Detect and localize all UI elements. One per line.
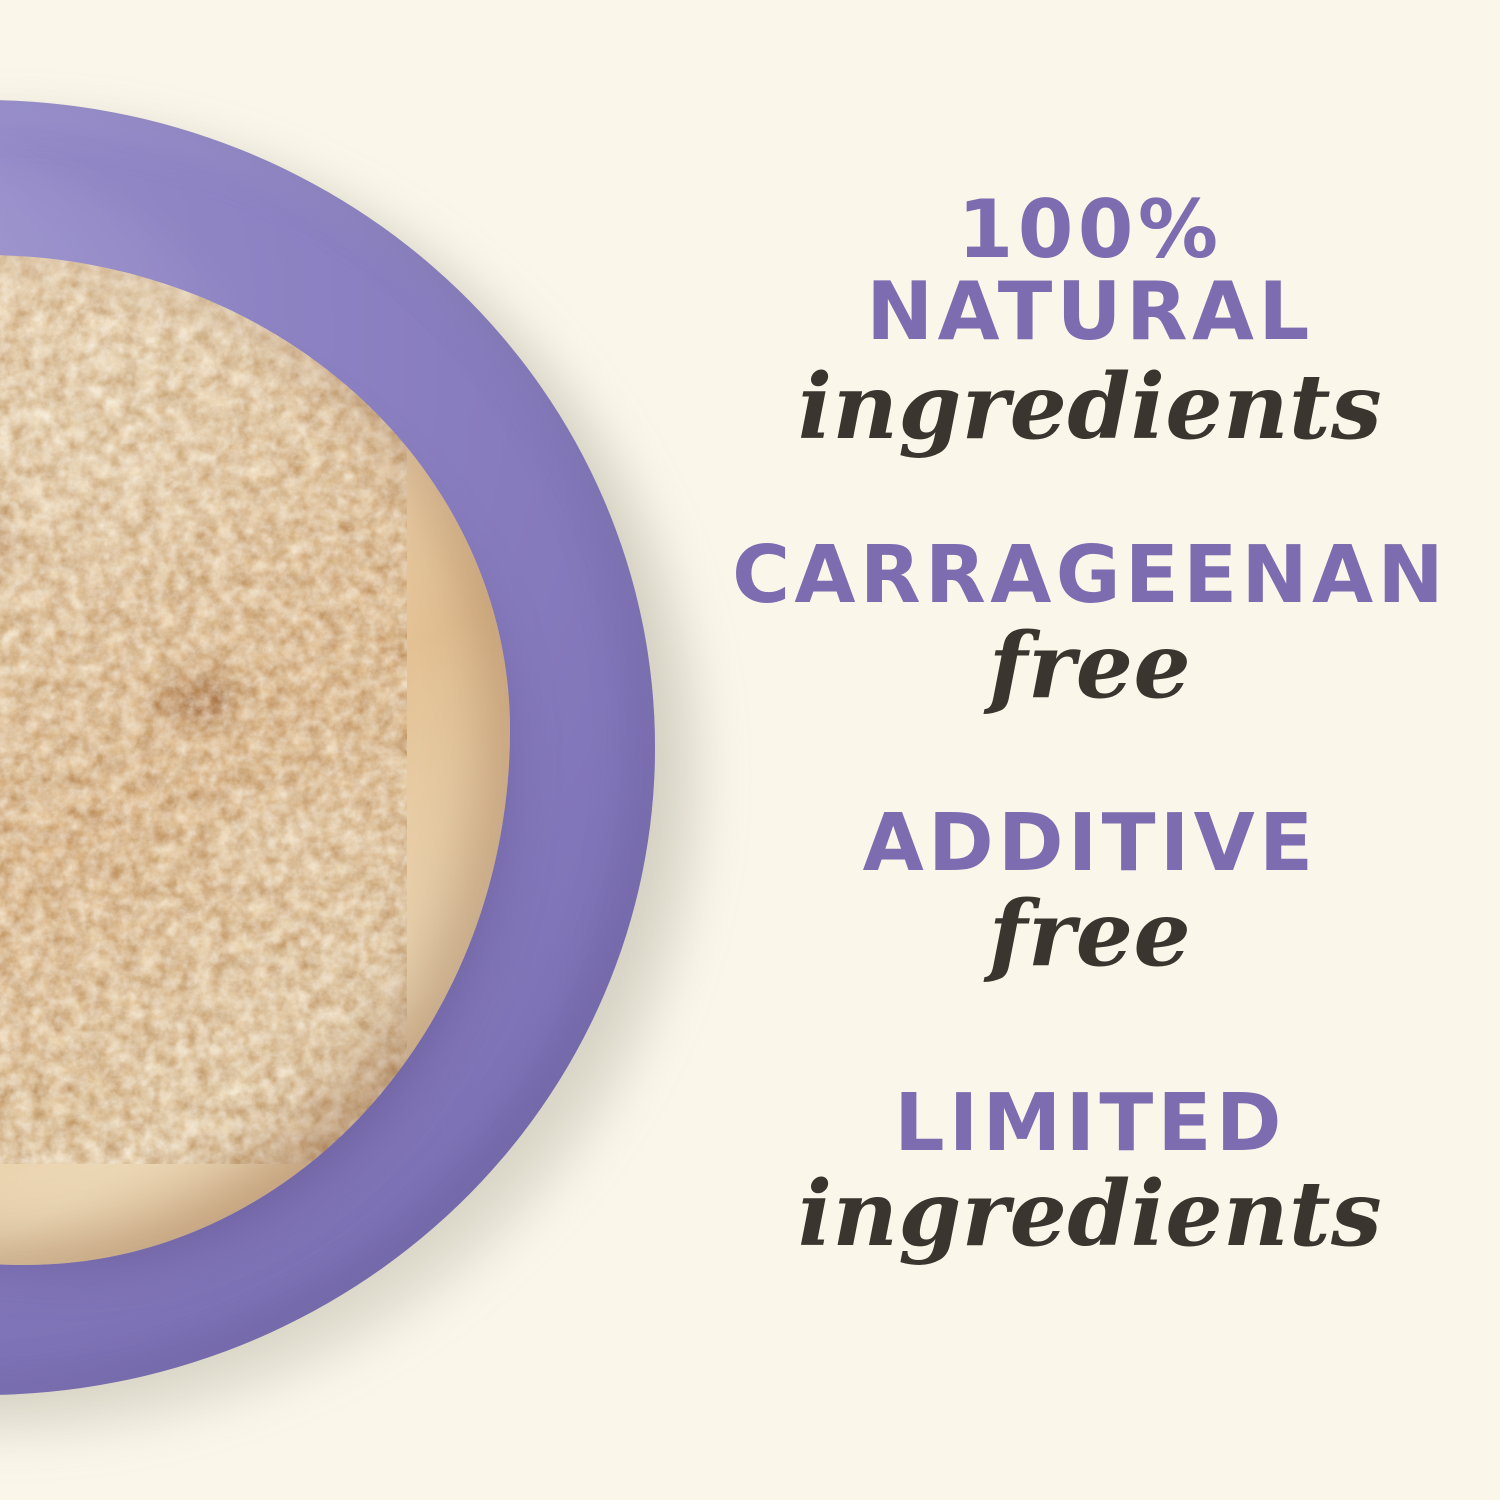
claim-headline: 100% NATURAL xyxy=(700,192,1480,350)
food-texture xyxy=(0,255,510,1265)
food-grain-light-icon xyxy=(0,255,407,1164)
product-claims-banner: 100% NATURAL ingredients CARRAGEENAN fre… xyxy=(0,0,1500,1500)
claim-headline-line1: 100% xyxy=(958,183,1223,276)
claim-headline-line2: NATURAL xyxy=(700,274,1480,350)
claim-carrageenan-free: CARRAGEENAN free xyxy=(700,538,1480,711)
claims-list: 100% NATURAL ingredients CARRAGEENAN fre… xyxy=(700,0,1480,1500)
claim-script-text: ingredients xyxy=(700,1169,1480,1259)
claim-natural-ingredients: 100% NATURAL ingredients xyxy=(700,192,1480,452)
claim-script-text: free xyxy=(700,621,1480,711)
claim-headline-line1: CARRAGEENAN xyxy=(732,529,1448,621)
claim-headline: CARRAGEENAN xyxy=(700,538,1480,613)
claim-script-text: free xyxy=(700,889,1480,979)
claim-script-text: ingredients xyxy=(700,362,1480,452)
claim-headline-line1: LIMITED xyxy=(894,1077,1286,1169)
claim-additive-free: ADDITIVE free xyxy=(700,806,1480,979)
claim-headline: LIMITED xyxy=(700,1086,1480,1161)
food-mound xyxy=(0,255,510,1265)
claim-headline-line1: ADDITIVE xyxy=(863,797,1318,889)
claim-limited-ingredients: LIMITED ingredients xyxy=(700,1086,1480,1259)
claim-headline: ADDITIVE xyxy=(700,806,1480,881)
